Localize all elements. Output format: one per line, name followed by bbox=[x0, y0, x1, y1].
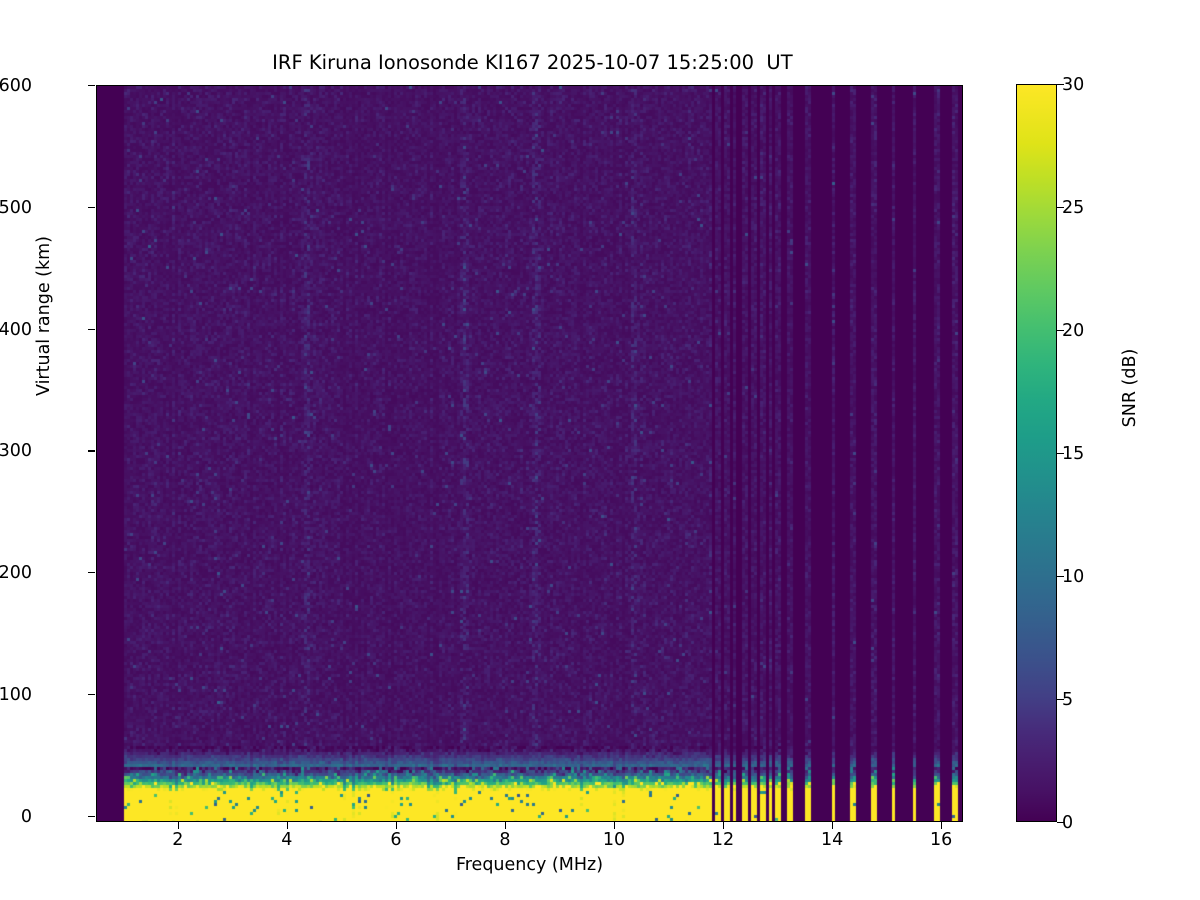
x-tick-label: 4 bbox=[257, 830, 317, 850]
y-tick-label: 300 bbox=[0, 441, 32, 461]
y-tick-label: 100 bbox=[0, 685, 32, 705]
x-tick-mark bbox=[614, 822, 615, 829]
x-tick-mark bbox=[178, 822, 179, 829]
colorbar-tick-label: 25 bbox=[1062, 198, 1084, 218]
x-tick-mark bbox=[832, 822, 833, 829]
x-tick-label: 6 bbox=[366, 830, 426, 850]
colorbar-tick-label: 30 bbox=[1062, 75, 1084, 95]
x-tick-label: 8 bbox=[475, 830, 535, 850]
ionogram-figure: IRF Kiruna Ionosonde KI167 2025-10-07 15… bbox=[0, 0, 1200, 900]
x-tick-mark bbox=[505, 822, 506, 829]
y-tick-mark bbox=[88, 450, 95, 451]
y-tick-mark bbox=[88, 329, 95, 330]
y-tick-label: 400 bbox=[0, 320, 32, 340]
ionogram-plot-area bbox=[96, 85, 963, 822]
colorbar-tick-label: 20 bbox=[1062, 321, 1084, 341]
colorbar-tick-label: 0 bbox=[1062, 813, 1073, 833]
x-tick-label: 12 bbox=[693, 830, 753, 850]
ionogram-heatmap-canvas bbox=[97, 86, 963, 822]
y-tick-mark bbox=[88, 694, 95, 695]
y-tick-mark bbox=[88, 816, 95, 817]
y-tick-mark bbox=[88, 85, 95, 86]
y-tick-mark bbox=[88, 572, 95, 573]
y-tick-label: 0 bbox=[0, 807, 32, 827]
colorbar-tick-label: 15 bbox=[1062, 444, 1084, 464]
x-axis-label: Frequency (MHz) bbox=[96, 855, 963, 875]
x-tick-label: 14 bbox=[802, 830, 862, 850]
x-tick-mark bbox=[287, 822, 288, 829]
colorbar-tick-label: 10 bbox=[1062, 567, 1084, 587]
colorbar bbox=[1016, 84, 1057, 822]
y-tick-label: 200 bbox=[0, 563, 32, 583]
x-tick-label: 16 bbox=[911, 830, 971, 850]
x-tick-label: 2 bbox=[148, 830, 208, 850]
y-axis-label: Virtual range (km) bbox=[34, 196, 54, 436]
x-tick-label: 10 bbox=[584, 830, 644, 850]
colorbar-label: SNR (dB) bbox=[1120, 268, 1140, 508]
x-tick-mark bbox=[723, 822, 724, 829]
x-tick-mark bbox=[941, 822, 942, 829]
colorbar-tick-label: 5 bbox=[1062, 690, 1073, 710]
title-line-1: IRF Kiruna Ionosonde KI167 2025-10-07 15… bbox=[272, 51, 792, 74]
y-tick-mark bbox=[88, 207, 95, 208]
y-tick-label: 500 bbox=[0, 198, 32, 218]
x-tick-mark bbox=[396, 822, 397, 829]
y-tick-label: 600 bbox=[0, 76, 32, 96]
